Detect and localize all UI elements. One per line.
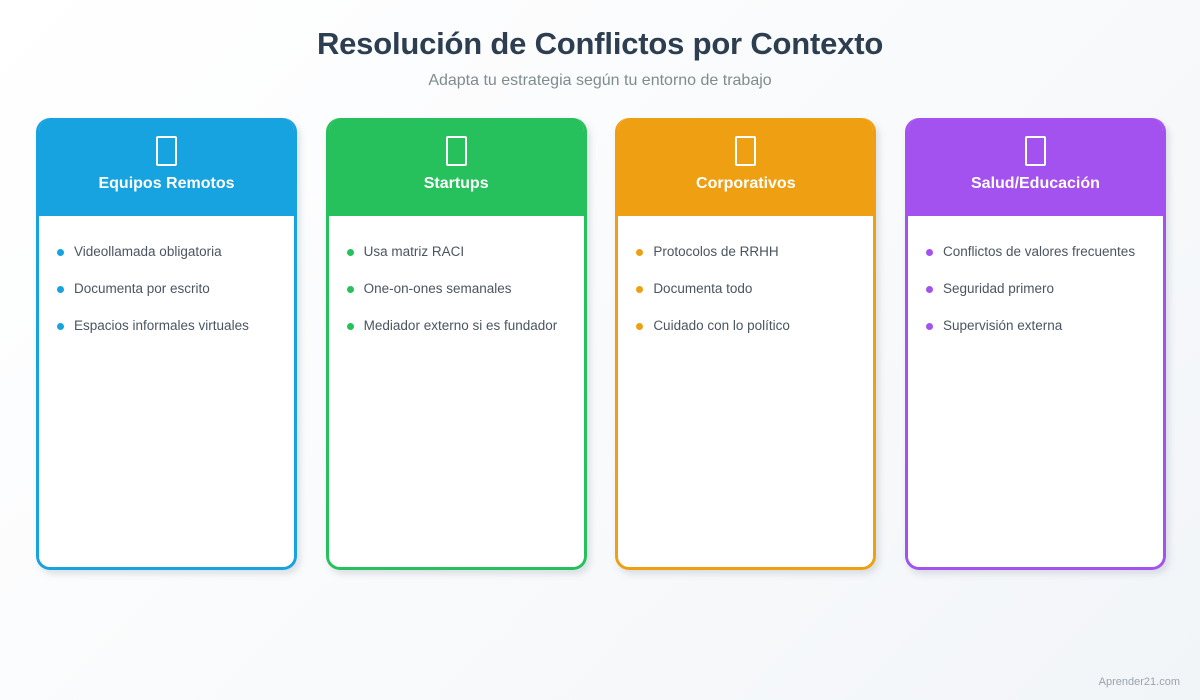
- card-title: Equipos Remotos: [98, 174, 234, 193]
- page-header: Resolución de Conflictos por Contexto Ad…: [0, 0, 1200, 90]
- bullet-dot-icon: [926, 286, 933, 293]
- list-item-label: Seguridad primero: [943, 281, 1054, 296]
- list-item: Conflictos de valores frecuentes: [926, 244, 1149, 261]
- bullet-dot-icon: [636, 323, 643, 330]
- card-list: Conflictos de valores frecuentesSegurida…: [926, 244, 1149, 335]
- page-title: Resolución de Conflictos por Contexto: [0, 26, 1200, 62]
- card-list: Protocolos de RRHHDocumenta todoCuidado …: [636, 244, 859, 335]
- card-title: Corporativos: [696, 174, 796, 193]
- list-item-label: Documenta por escrito: [74, 281, 210, 296]
- bullet-dot-icon: [347, 323, 354, 330]
- list-item-label: Mediador externo si es fundador: [364, 318, 558, 333]
- card-list: Usa matriz RACIOne-on-ones semanalesMedi…: [347, 244, 570, 335]
- list-item-label: Usa matriz RACI: [364, 244, 465, 259]
- list-item: Protocolos de RRHH: [636, 244, 859, 261]
- bullet-dot-icon: [57, 323, 64, 330]
- footer-credit: Aprender21.com: [1099, 676, 1180, 688]
- list-item: Supervisión externa: [926, 318, 1149, 335]
- list-item: Mediador externo si es fundador: [347, 318, 570, 335]
- list-item-label: Supervisión externa: [943, 318, 1062, 333]
- card-title: Startups: [424, 174, 489, 193]
- list-item: Usa matriz RACI: [347, 244, 570, 261]
- list-item: One-on-ones semanales: [347, 281, 570, 298]
- card-title: Salud/Educación: [971, 174, 1100, 193]
- list-item-label: Protocolos de RRHH: [653, 244, 778, 259]
- list-item: Documenta todo: [636, 281, 859, 298]
- list-item: Videollamada obligatoria: [57, 244, 280, 261]
- bullet-dot-icon: [926, 249, 933, 256]
- context-cards-row: Equipos RemotosVideollamada obligatoriaD…: [36, 118, 1166, 570]
- bullet-dot-icon: [926, 323, 933, 330]
- list-item-label: Videollamada obligatoria: [74, 244, 222, 259]
- missing-glyph-icon: [446, 136, 467, 166]
- page-subtitle: Adapta tu estrategia según tu entorno de…: [0, 71, 1200, 90]
- card-body-equipos-remotos: Videollamada obligatoriaDocumenta por es…: [39, 216, 294, 567]
- list-item-label: Espacios informales virtuales: [74, 318, 249, 333]
- bullet-dot-icon: [57, 286, 64, 293]
- missing-glyph-icon: [735, 136, 756, 166]
- list-item: Seguridad primero: [926, 281, 1149, 298]
- list-item-label: One-on-ones semanales: [364, 281, 512, 296]
- bullet-dot-icon: [57, 249, 64, 256]
- context-card-equipos-remotos[interactable]: Equipos RemotosVideollamada obligatoriaD…: [36, 118, 297, 570]
- card-body-corporativos: Protocolos de RRHHDocumenta todoCuidado …: [618, 216, 873, 567]
- card-body-salud-educacion: Conflictos de valores frecuentesSegurida…: [908, 216, 1163, 567]
- bullet-dot-icon: [636, 249, 643, 256]
- context-card-startups[interactable]: StartupsUsa matriz RACIOne-on-ones seman…: [326, 118, 587, 570]
- context-card-salud-educacion[interactable]: Salud/EducaciónConflictos de valores fre…: [905, 118, 1166, 570]
- list-item: Cuidado con lo político: [636, 318, 859, 335]
- bullet-dot-icon: [347, 286, 354, 293]
- card-list: Videollamada obligatoriaDocumenta por es…: [57, 244, 280, 335]
- list-item: Espacios informales virtuales: [57, 318, 280, 335]
- card-body-startups: Usa matriz RACIOne-on-ones semanalesMedi…: [329, 216, 584, 567]
- missing-glyph-icon: [1025, 136, 1046, 166]
- list-item: Documenta por escrito: [57, 281, 280, 298]
- list-item-label: Conflictos de valores frecuentes: [943, 244, 1135, 259]
- card-header-corporativos: Corporativos: [615, 118, 876, 216]
- list-item-label: Documenta todo: [653, 281, 752, 296]
- card-header-salud-educacion: Salud/Educación: [905, 118, 1166, 216]
- bullet-dot-icon: [636, 286, 643, 293]
- list-item-label: Cuidado con lo político: [653, 318, 790, 333]
- context-card-corporativos[interactable]: CorporativosProtocolos de RRHHDocumenta …: [615, 118, 876, 570]
- card-header-startups: Startups: [326, 118, 587, 216]
- card-header-equipos-remotos: Equipos Remotos: [36, 118, 297, 216]
- bullet-dot-icon: [347, 249, 354, 256]
- missing-glyph-icon: [156, 136, 177, 166]
